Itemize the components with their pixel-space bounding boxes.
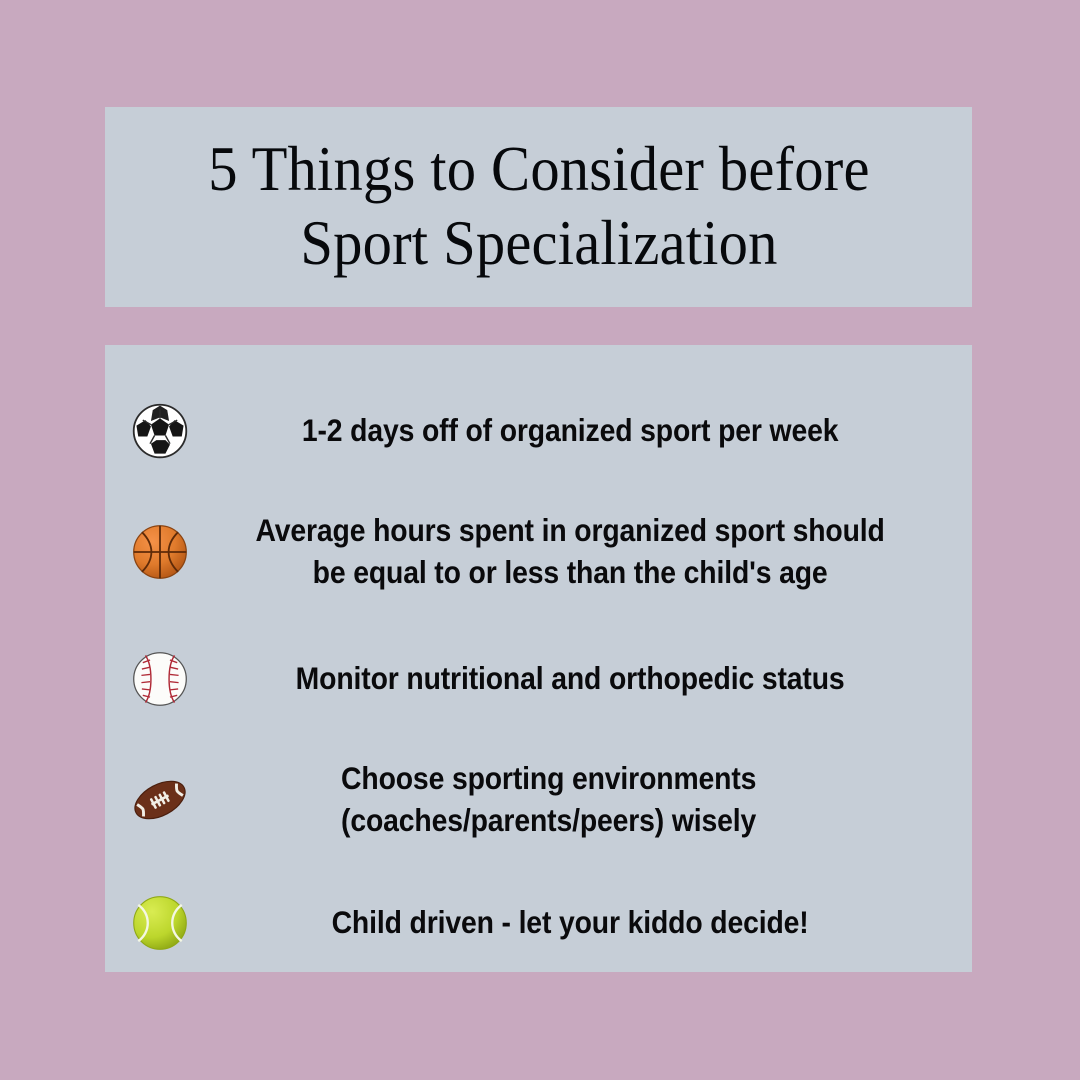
list-item: Average hours spent in organized sport s…: [105, 489, 972, 615]
tips-list-panel: 1-2 days off of organized sport per week: [105, 345, 972, 972]
list-item: Monitor nutritional and orthopedic statu…: [105, 633, 972, 725]
list-item-text: 1-2 days off of organized sport per week: [253, 410, 934, 452]
poster-canvas: 5 Things to Consider before Sport Specia…: [0, 0, 1080, 1080]
soccer-ball-icon: [105, 402, 215, 460]
list-item: 1-2 days off of organized sport per week: [105, 385, 972, 477]
list-item-text: Average hours spent in organized sport s…: [253, 510, 934, 593]
tennis-ball-icon: [105, 894, 215, 952]
list-item-text: Monitor nutritional and orthopedic statu…: [253, 658, 934, 700]
baseball-icon: [105, 650, 215, 708]
list-item: Choose sporting environments (coaches/pa…: [105, 737, 972, 863]
page-title: 5 Things to Consider before Sport Specia…: [148, 133, 929, 280]
american-football-icon: [105, 769, 215, 831]
list-item: Child driven - let your kiddo decide!: [105, 877, 972, 969]
list-item-text: Child driven - let your kiddo decide!: [253, 902, 934, 944]
list-item-text: Choose sporting environments (coaches/pa…: [253, 758, 934, 841]
title-panel: 5 Things to Consider before Sport Specia…: [105, 107, 972, 307]
basketball-icon: [105, 523, 215, 581]
